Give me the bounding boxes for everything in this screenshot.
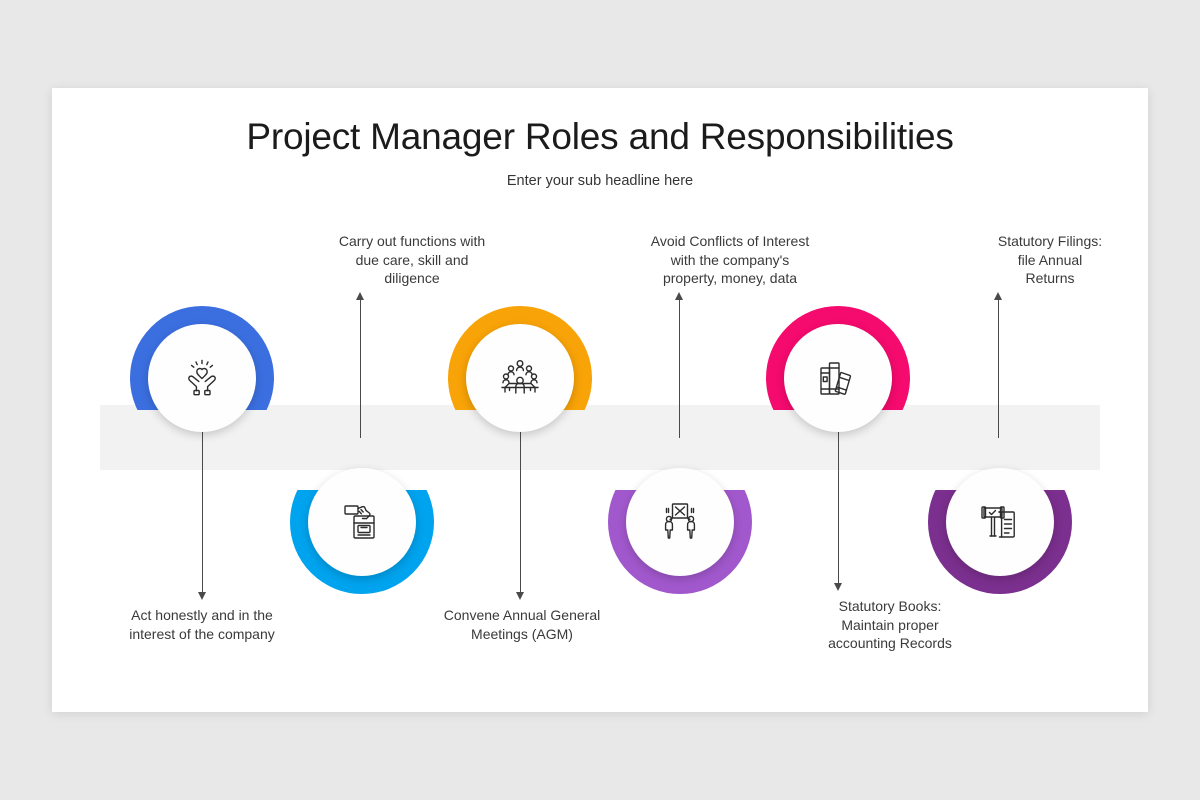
books-shelf-icon	[812, 352, 864, 404]
page-title: Project Manager Roles and Responsibiliti…	[52, 116, 1148, 158]
connector-node-2	[360, 298, 361, 438]
connector-node-4	[679, 298, 680, 438]
icon-circle[interactable]	[466, 324, 574, 432]
node-carry-out-functions[interactable]	[290, 450, 434, 594]
arrow-head-node-6	[994, 292, 1002, 300]
caption-line: interest of the company	[92, 625, 312, 644]
caption-line: Avoid Conflicts of Interest	[620, 232, 840, 251]
icon-circle[interactable]	[946, 468, 1054, 576]
node-avoid-conflicts[interactable]	[608, 450, 752, 594]
node-convene-agm[interactable]	[448, 306, 592, 450]
caption-line: property, money, data	[620, 269, 840, 288]
caption-line: with the company's	[620, 251, 840, 270]
conflict-of-interest-icon	[654, 496, 706, 548]
node-act-honestly[interactable]	[130, 306, 274, 450]
page-subtitle: Enter your sub headline here	[52, 173, 1148, 189]
arrow-head-node-4	[675, 292, 683, 300]
caption-line: Returns	[940, 269, 1160, 288]
connector-node-6	[998, 298, 999, 438]
icon-circle[interactable]	[784, 324, 892, 432]
caption-node-4: Avoid Conflicts of Interest with the com…	[620, 232, 840, 288]
caption-line: diligence	[302, 269, 522, 288]
arrow-head-node-1	[198, 592, 206, 600]
caption-node-6: Statutory Filings: file Annual Returns	[940, 232, 1160, 288]
hand-filing-document-icon	[337, 497, 387, 547]
arrow-head-node-2	[356, 292, 364, 300]
caption-line: Statutory Filings:	[940, 232, 1160, 251]
meeting-table-people-icon	[494, 352, 546, 404]
caption-line: Statutory Books:	[780, 597, 1000, 616]
caption-line: accounting Records	[780, 634, 1000, 653]
caption-node-2: Carry out functions with due care, skill…	[302, 232, 522, 288]
caption-line: Convene Annual General	[412, 606, 632, 625]
caption-line: Carry out functions with	[302, 232, 522, 251]
icon-circle[interactable]	[308, 468, 416, 576]
caption-line: Maintain proper	[780, 616, 1000, 635]
caption-line: Meetings (AGM)	[412, 625, 632, 644]
caption-node-5: Statutory Books: Maintain proper account…	[780, 597, 1000, 653]
caption-line: due care, skill and	[302, 251, 522, 270]
caption-line: file Annual	[940, 251, 1160, 270]
node-statutory-filings[interactable]	[928, 450, 1072, 594]
caption-node-3: Convene Annual General Meetings (AGM)	[412, 606, 632, 643]
caption-node-1: Act honestly and in the interest of the …	[92, 606, 312, 643]
hands-holding-heart-icon	[176, 352, 228, 404]
icon-circle[interactable]	[626, 468, 734, 576]
caption-line: Act honestly and in the	[92, 606, 312, 625]
node-statutory-books[interactable]	[766, 306, 910, 450]
arrow-head-node-5	[834, 583, 842, 591]
slide-canvas: Project Manager Roles and Responsibiliti…	[52, 88, 1148, 712]
stamp-approved-document-icon	[974, 496, 1026, 548]
arrow-head-node-3	[516, 592, 524, 600]
icon-circle[interactable]	[148, 324, 256, 432]
